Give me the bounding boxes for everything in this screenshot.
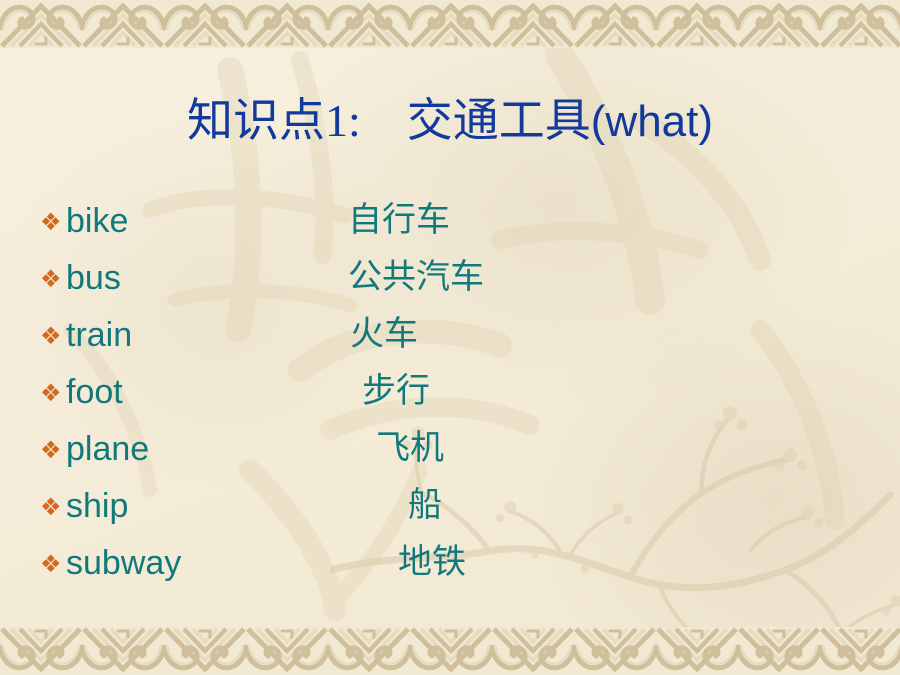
diamond-bullet-icon: ❖ [40, 380, 62, 406]
vocab-term-english: plane [66, 427, 149, 471]
vocab-term-english: train [66, 313, 132, 357]
list-item[interactable]: ❖ ship 船 [0, 483, 900, 540]
list-item[interactable]: ❖ foot 步行 [0, 369, 900, 426]
list-item[interactable]: ❖ plane 飞机 [0, 426, 900, 483]
vocab-term-chinese: 公共汽车 [348, 255, 484, 301]
vocabulary-list: ❖ bike 自行车 ❖ bus 公共汽车 ❖ train 火车 ❖ foot … [0, 198, 900, 597]
list-item[interactable]: ❖ train 火车 [0, 312, 900, 369]
list-item[interactable]: ❖ bike 自行车 [0, 198, 900, 255]
vocab-term-english: subway [66, 541, 181, 585]
diamond-bullet-icon: ❖ [40, 494, 62, 520]
vocab-term-chinese: 船 [408, 483, 442, 529]
list-item[interactable]: ❖ bus 公共汽车 [0, 255, 900, 312]
vocab-term-chinese: 火车 [350, 312, 418, 358]
list-item[interactable]: ❖ subway 地铁 [0, 540, 900, 597]
vocab-term-chinese: 飞机 [376, 426, 444, 472]
diamond-bullet-icon: ❖ [40, 437, 62, 463]
vocab-term-chinese: 自行车 [348, 198, 450, 244]
slide-title-topic: 交通工具 [407, 95, 591, 146]
presentation-slide: 知识点1: 交通工具(what) ❖ bike 自行车 ❖ bus 公共汽车 ❖… [0, 0, 900, 675]
vocab-term-english: foot [66, 370, 123, 414]
vocab-term-english: bus [66, 256, 121, 300]
diamond-bullet-icon: ❖ [40, 323, 62, 349]
vocab-term-english: ship [66, 484, 128, 528]
diamond-bullet-icon: ❖ [40, 551, 62, 577]
vocab-term-chinese: 步行 [362, 369, 430, 415]
slide-title-chinese: 知识点1: [187, 95, 407, 146]
diamond-bullet-icon: ❖ [40, 266, 62, 292]
slide-title-latin: (what) [591, 97, 713, 146]
vocab-term-english: bike [66, 199, 128, 243]
diamond-bullet-icon: ❖ [40, 209, 62, 235]
slide-title: 知识点1: 交通工具(what) [0, 92, 900, 151]
vocab-term-chinese: 地铁 [398, 540, 466, 586]
